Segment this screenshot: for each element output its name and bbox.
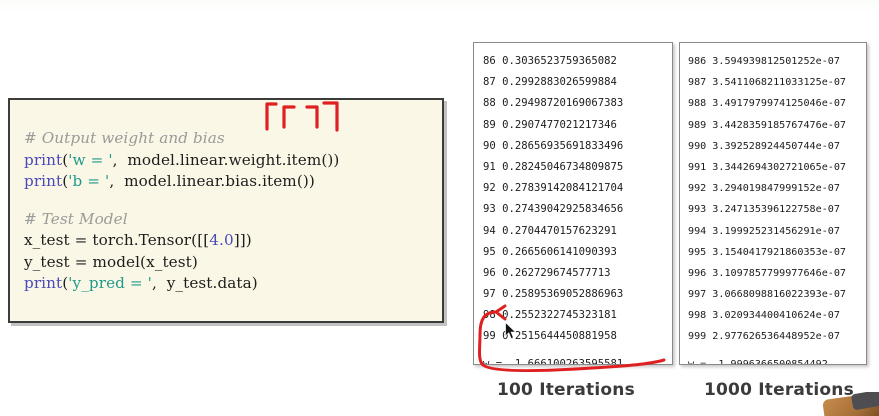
output-row: 998 3.020934400410624e-07	[688, 305, 864, 326]
output-summary-row: w = 1.9996366500854492	[688, 354, 864, 365]
output-row: 993 3.247135396122758e-07	[688, 199, 864, 220]
output-row: 996 3.1097857799977646e-07	[688, 263, 864, 284]
code-token-plain: ]])	[234, 231, 252, 249]
output-panel-1000-iterations: 986 3.594939812501252e-07987 3.541106821…	[679, 42, 867, 365]
code-line: x_test = torch.Tensor([[4.0]])	[24, 230, 436, 252]
output-row: 997 3.0668098816022393e-07	[688, 284, 864, 305]
code-token-plain: , model.linear.weight.item())	[113, 151, 340, 169]
output-row: 86 0.3036523759365082	[483, 51, 670, 72]
code-line: print('b = ', model.linear.bias.item())	[24, 171, 436, 193]
output-listing-1000: 986 3.594939812501252e-07987 3.541106821…	[688, 51, 864, 365]
slide-background-tint	[0, 0, 879, 14]
code-line	[24, 193, 436, 209]
output-row: 87 0.2992883026599884	[483, 72, 670, 93]
code-token-str: 'w = '	[68, 151, 112, 169]
output-row: 96 0.262729674577713	[483, 263, 670, 284]
code-token-kw: print	[24, 274, 62, 292]
output-row: 986 3.594939812501252e-07	[688, 51, 864, 72]
code-line: # Test Model	[24, 209, 436, 231]
output-row: 89 0.2907477021217346	[483, 115, 670, 136]
output-row: 99 0.2515644450881958	[483, 326, 670, 347]
code-token-comment: # Test Model	[24, 210, 128, 228]
code-token-plain: x_test = torch.Tensor([[	[24, 231, 209, 249]
output-row: 90 0.28656935691833496	[483, 136, 670, 157]
code-panel: # Output weight and biasprint('w = ', mo…	[8, 98, 444, 323]
code-line: # Output weight and bias	[24, 128, 436, 150]
output-row: 989 3.4428359185767476e-07	[688, 115, 864, 136]
output-row: 88 0.29498720169067383	[483, 93, 670, 114]
output-row: 987 3.5411068211033125e-07	[688, 72, 864, 93]
code-token-str: 'b = '	[68, 172, 109, 190]
output-row: 95 0.2665606141090393	[483, 242, 670, 263]
output-row: 992 3.294019847999152e-07	[688, 178, 864, 199]
output-row: 994 3.199925231456291e-07	[688, 221, 864, 242]
caption-1000-iterations: 1000 Iterations	[704, 380, 854, 400]
output-row: 91 0.28245046734809875	[483, 157, 670, 178]
output-row: 990 3.392528924450744e-07	[688, 136, 864, 157]
output-listing-100: 86 0.303652375936508287 0.29928830265998…	[483, 51, 670, 365]
code-line: y_test = model(x_test)	[24, 252, 436, 274]
output-row: 991 3.3442694302721065e-07	[688, 157, 864, 178]
code-token-plain: , model.linear.bias.item())	[109, 172, 315, 190]
output-row: 999 2.977626536448952e-07	[688, 326, 864, 347]
caption-100-iterations: 100 Iterations	[497, 380, 635, 400]
output-row: 98 0.2552322745323181	[483, 305, 670, 326]
code-token-kw: print	[24, 151, 62, 169]
output-row: 995 3.1540417921860353e-07	[688, 242, 864, 263]
output-row: 94 0.2704470157623291	[483, 221, 670, 242]
code-token-str: 'y_pred = '	[68, 274, 152, 292]
code-listing: # Output weight and biasprint('w = ', mo…	[24, 128, 436, 295]
output-panel-100-iterations: 86 0.303652375936508287 0.29928830265998…	[473, 42, 673, 365]
code-token-num: 4.0	[209, 231, 233, 249]
output-row: 92 0.27839142084121704	[483, 178, 670, 199]
code-token-comment: # Output weight and bias	[24, 129, 225, 147]
code-line: print('w = ', model.linear.weight.item()…	[24, 150, 436, 172]
output-row: 988 3.4917979974125046e-07	[688, 93, 864, 114]
output-row: 97 0.25895369052886963	[483, 284, 670, 305]
output-row: 93 0.27439042925834656	[483, 199, 670, 220]
output-summary-row: w = 1.666100263595581	[483, 354, 670, 365]
code-token-plain: y_test = model(x_test)	[24, 253, 198, 271]
code-token-kw: print	[24, 172, 62, 190]
code-token-plain: , y_test.data)	[152, 274, 258, 292]
code-line: print('y_pred = ', y_test.data)	[24, 273, 436, 295]
